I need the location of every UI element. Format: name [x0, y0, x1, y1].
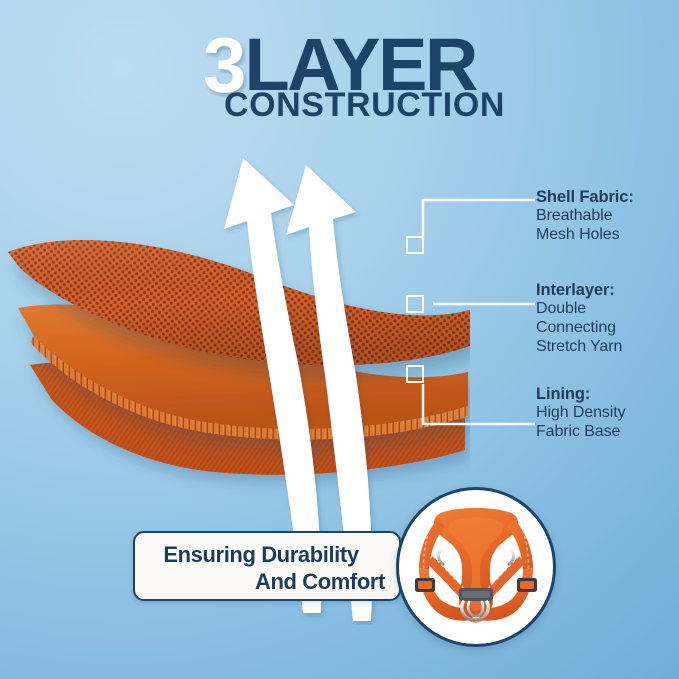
title-subtitle: CONSTRUCTION: [0, 86, 679, 125]
callout-marker-interlayer: [406, 295, 424, 313]
caption-box: Ensuring Durability And Comfort: [133, 531, 401, 601]
callout-line-lining-2: Fabric Base: [536, 423, 679, 442]
caption-line-1: Ensuring Durability: [135, 542, 387, 568]
callout-marker-lining: [406, 365, 424, 383]
product-image-circle: [396, 487, 556, 647]
leader-line-shell: [423, 200, 535, 240]
caption-line-2: And Comfort: [135, 569, 385, 595]
callout-line-shell-2: Mesh Holes: [536, 226, 679, 245]
callout-label-shell-fabric: Shell Fabric: Breathable Mesh Holes: [536, 188, 679, 245]
callout-line-interlayer-2: Connecting: [536, 319, 679, 338]
callout-line-interlayer-1: Double: [536, 300, 679, 319]
infographic-canvas: 3LAYER CONSTRUCTION: [0, 0, 679, 679]
callout-label-interlayer: Interlayer: Double Connecting Stretch Ya…: [536, 281, 679, 357]
callout-label-lining: Lining: High Density Fabric Base: [536, 385, 679, 442]
callout-line-lining-1: High Density: [536, 404, 679, 423]
leader-line-lining: [423, 384, 535, 424]
callout-heading-interlayer: Interlayer:: [536, 281, 679, 300]
callout-line-interlayer-3: Stretch Yarn: [536, 338, 679, 357]
dog-harness-icon: [399, 490, 553, 644]
callout-line-shell-1: Breathable: [536, 207, 679, 226]
callout-marker-shell: [406, 236, 424, 254]
callout-heading-lining: Lining:: [536, 385, 679, 404]
callout-heading-shell: Shell Fabric:: [536, 188, 679, 207]
page-title: 3LAYER CONSTRUCTION: [0, 30, 679, 135]
